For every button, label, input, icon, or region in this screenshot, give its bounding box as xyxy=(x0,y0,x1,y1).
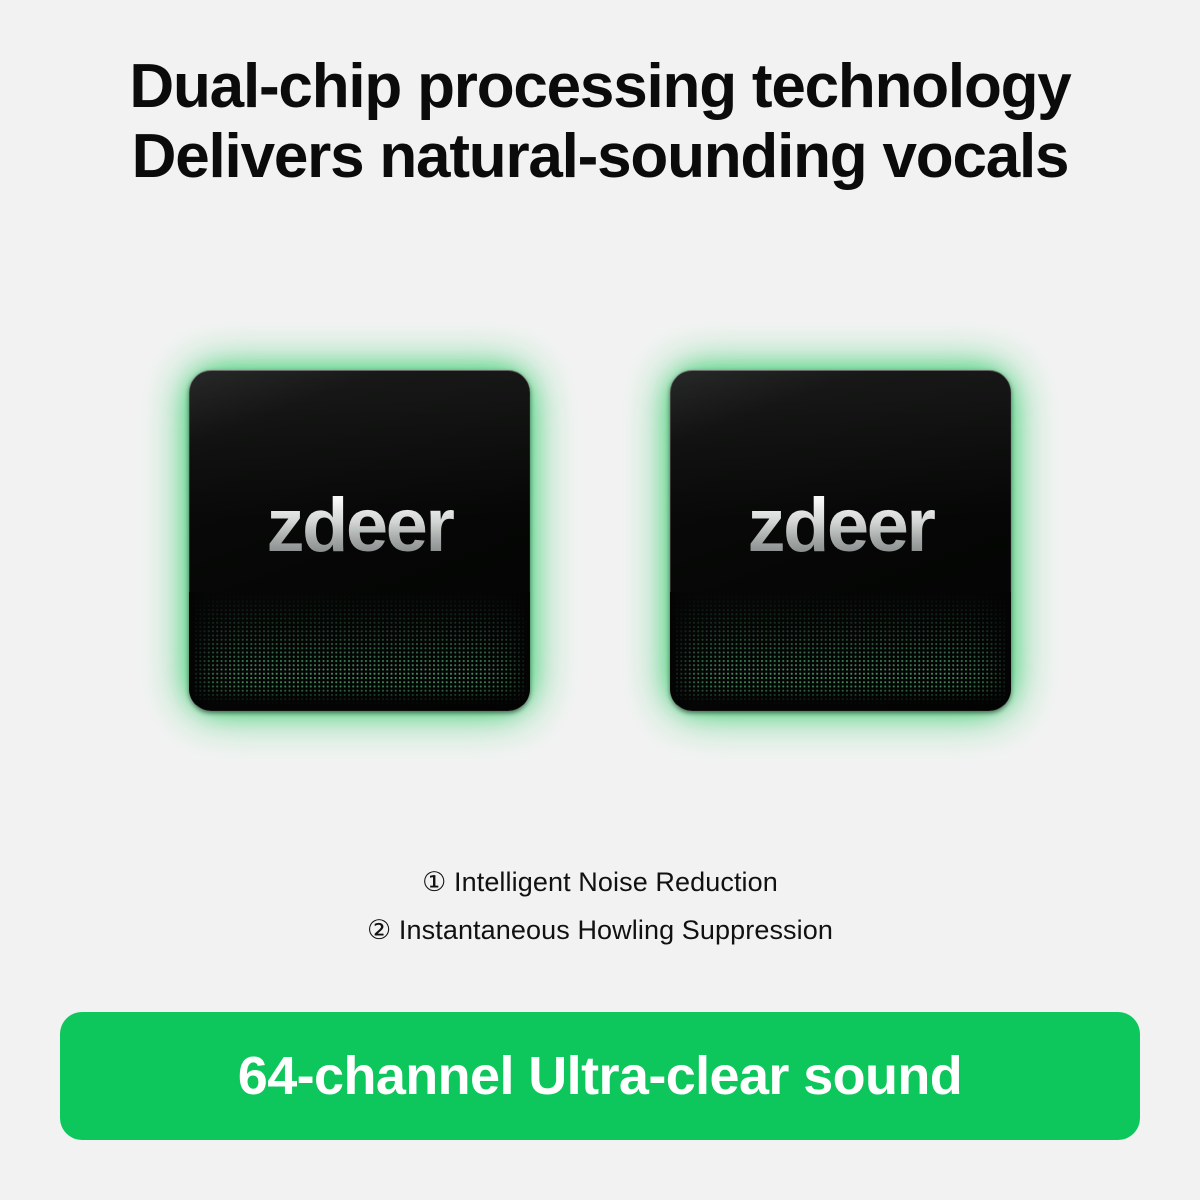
page-title-line-1: Dual-chip processing technology xyxy=(0,52,1200,122)
chip-right: zdeer xyxy=(670,370,1011,711)
chip-dot-matrix-fade-left xyxy=(189,592,530,705)
feature-item-1: ① Intelligent Noise Reduction xyxy=(0,858,1200,906)
page-title: Dual-chip processing technology Delivers… xyxy=(0,52,1200,192)
page-title-line-2: Delivers natural-sounding vocals xyxy=(0,122,1200,192)
chip-dot-matrix-right xyxy=(676,592,1005,705)
highlight-banner-label: 64-channel Ultra-clear sound xyxy=(238,1045,962,1107)
feature-list: ① Intelligent Noise Reduction ② Instanta… xyxy=(0,858,1200,954)
chip-logo-left: zdeer xyxy=(189,488,530,564)
chip-dot-matrix-left xyxy=(195,592,524,705)
chip-logo-right: zdeer xyxy=(670,488,1011,564)
chip-body-left: zdeer xyxy=(189,370,530,711)
feature-item-2: ② Instantaneous Howling Suppression xyxy=(0,906,1200,954)
chip-illustration-row: zdeer zdeer xyxy=(0,370,1200,715)
chip-body-right: zdeer xyxy=(670,370,1011,711)
highlight-banner: 64-channel Ultra-clear sound xyxy=(60,1012,1140,1140)
chip-dot-matrix-fade-right xyxy=(670,592,1011,705)
chip-left: zdeer xyxy=(189,370,530,711)
